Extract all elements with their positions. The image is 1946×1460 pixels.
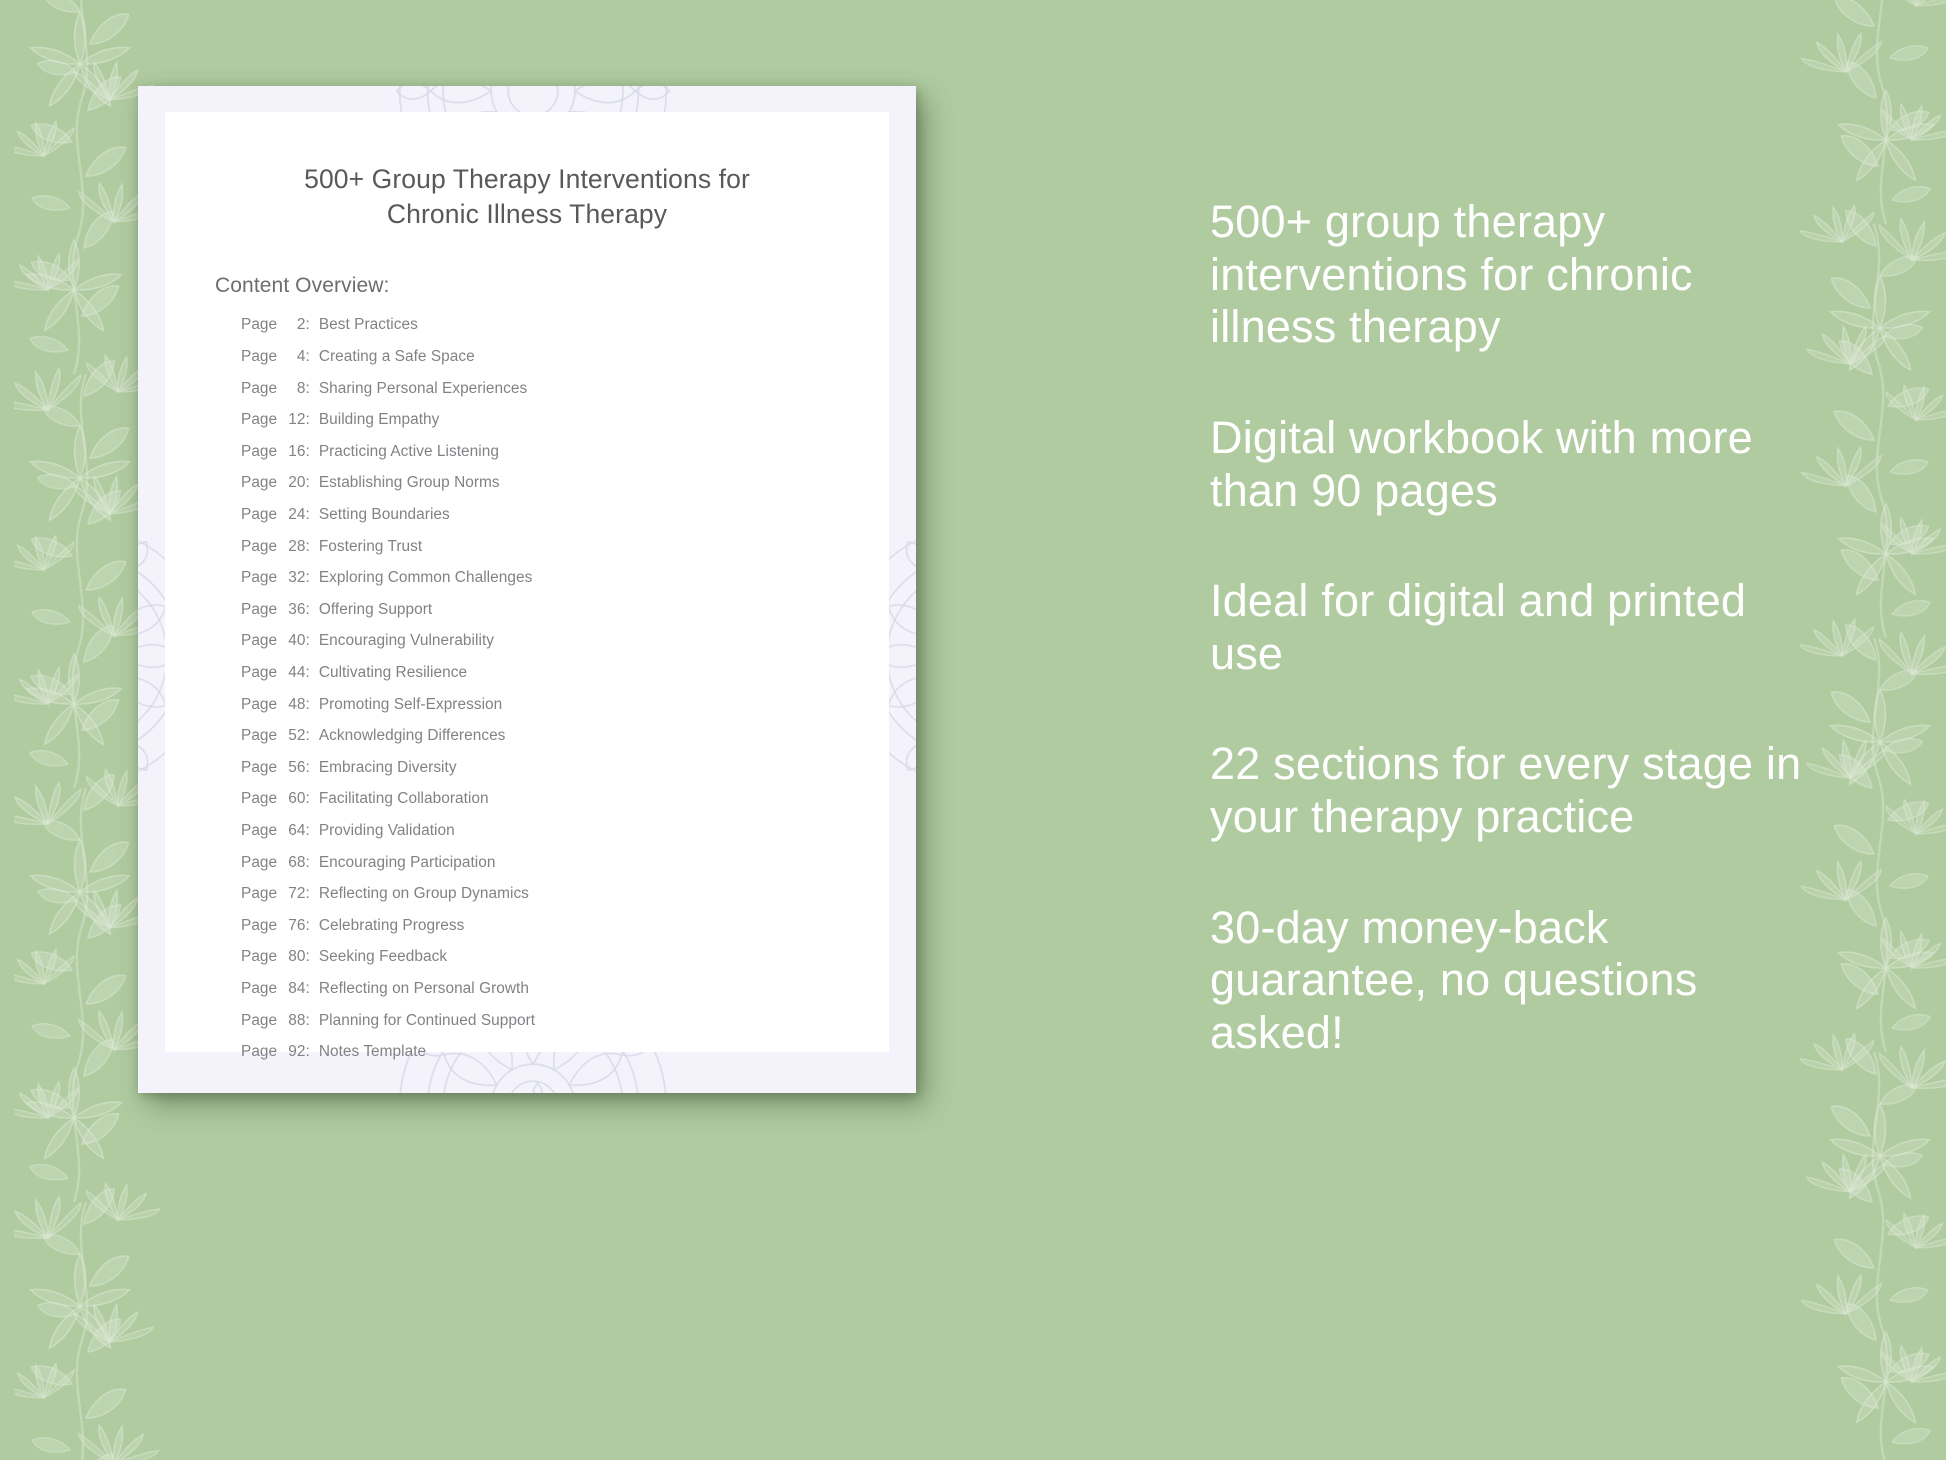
toc-page-number: 68	[281, 854, 305, 872]
toc-page-label: Page 12:	[241, 411, 319, 429]
toc-page-number: 4	[281, 348, 305, 366]
toc-colon: :	[305, 411, 309, 428]
toc-section-title: Setting Boundaries	[319, 506, 450, 524]
toc-page-number: 64	[281, 822, 305, 840]
toc-section-title: Sharing Personal Experiences	[319, 380, 527, 398]
toc-colon: :	[305, 1043, 309, 1060]
toc-page-label: Page 2:	[241, 316, 319, 334]
toc-row: Page 4:Creating a Safe Space	[241, 348, 889, 380]
toc-page-word: Page	[241, 506, 281, 523]
toc-section-title: Establishing Group Norms	[319, 474, 500, 492]
toc-page-number: 32	[281, 569, 305, 587]
toc-section-title: Practicing Active Listening	[319, 443, 499, 461]
toc-page-label: Page 80:	[241, 948, 319, 966]
toc-colon: :	[305, 474, 309, 491]
toc-page-label: Page 24:	[241, 506, 319, 524]
marketing-block: Ideal for digital and printed use	[1210, 575, 1810, 680]
toc-colon: :	[305, 443, 309, 460]
toc-colon: :	[305, 980, 309, 997]
toc-page-label: Page 56:	[241, 759, 319, 777]
toc-page-word: Page	[241, 1043, 281, 1060]
toc-colon: :	[305, 632, 309, 649]
toc-page-word: Page	[241, 696, 281, 713]
toc-page-word: Page	[241, 885, 281, 902]
toc-colon: :	[305, 1012, 309, 1029]
toc-colon: :	[305, 506, 309, 523]
toc-colon: :	[305, 854, 309, 871]
toc-colon: :	[305, 885, 309, 902]
toc-page-label: Page 16:	[241, 443, 319, 461]
toc-row: Page 20:Establishing Group Norms	[241, 474, 889, 506]
toc-row: Page 88:Planning for Continued Support	[241, 1012, 889, 1044]
marketing-block: 30-day money-back guarantee, no question…	[1210, 902, 1810, 1060]
toc-colon: :	[305, 316, 309, 333]
toc-page-label: Page 64:	[241, 822, 319, 840]
toc-section-title: Cultivating Resilience	[319, 664, 467, 682]
marketing-block: Digital workbook with more than 90 pages	[1210, 412, 1810, 517]
toc-page-word: Page	[241, 601, 281, 618]
toc-section-title: Promoting Self-Expression	[319, 696, 502, 714]
toc-colon: :	[305, 664, 309, 681]
toc-page-number: 48	[281, 696, 305, 714]
toc-section-title: Seeking Feedback	[319, 948, 447, 966]
toc-section-title: Creating a Safe Space	[319, 348, 475, 366]
toc-colon: :	[305, 538, 309, 555]
toc-page-word: Page	[241, 790, 281, 807]
toc-page-label: Page 48:	[241, 696, 319, 714]
toc-page-number: 24	[281, 506, 305, 524]
toc-colon: :	[305, 822, 309, 839]
toc-row: Page 56:Embracing Diversity	[241, 759, 889, 791]
page-title-line-1: 500+ Group Therapy Interventions for	[304, 164, 750, 194]
toc-page-number: 2	[281, 316, 305, 334]
toc-page-label: Page 72:	[241, 885, 319, 903]
toc-colon: :	[305, 790, 309, 807]
toc-section-title: Exploring Common Challenges	[319, 569, 533, 587]
toc-page-label: Page 52:	[241, 727, 319, 745]
toc-row: Page 40:Encouraging Vulnerability	[241, 632, 889, 664]
toc-row: Page 28:Fostering Trust	[241, 538, 889, 570]
toc-page-word: Page	[241, 569, 281, 586]
toc-page-word: Page	[241, 411, 281, 428]
toc-colon: :	[305, 696, 309, 713]
toc-section-title: Fostering Trust	[319, 538, 422, 556]
toc-row: Page 52:Acknowledging Differences	[241, 727, 889, 759]
toc-page-number: 44	[281, 664, 305, 682]
toc-row: Page 92:Notes Template	[241, 1043, 889, 1075]
toc-page-label: Page 88:	[241, 1012, 319, 1030]
toc-page-word: Page	[241, 443, 281, 460]
toc-page-word: Page	[241, 664, 281, 681]
toc-row: Page 16:Practicing Active Listening	[241, 443, 889, 475]
toc-page-label: Page 36:	[241, 601, 319, 619]
toc-section-title: Embracing Diversity	[319, 759, 457, 777]
toc-page-word: Page	[241, 380, 281, 397]
toc-page-label: Page 4:	[241, 348, 319, 366]
toc-page-word: Page	[241, 980, 281, 997]
toc-page-number: 60	[281, 790, 305, 808]
toc-section-title: Offering Support	[319, 601, 432, 619]
toc-colon: :	[305, 380, 309, 397]
toc-page-number: 8	[281, 380, 305, 398]
toc-colon: :	[305, 569, 309, 586]
toc-page-word: Page	[241, 759, 281, 776]
toc-page-number: 84	[281, 980, 305, 998]
toc-page-word: Page	[241, 854, 281, 871]
toc-page-number: 92	[281, 1043, 305, 1061]
toc-page-label: Page 8:	[241, 380, 319, 398]
toc-section-title: Planning for Continued Support	[319, 1012, 535, 1030]
toc-page-label: Page 44:	[241, 664, 319, 682]
page-title-line-2: Chronic Illness Therapy	[387, 199, 667, 229]
toc-colon: :	[305, 601, 309, 618]
toc-page-word: Page	[241, 917, 281, 934]
toc-section-title: Facilitating Collaboration	[319, 790, 489, 808]
marketing-block: 500+ group therapy interventions for chr…	[1210, 196, 1810, 354]
toc-colon: :	[305, 759, 309, 776]
table-of-contents: Page 2:Best PracticesPage 4:Creating a S…	[165, 316, 889, 1074]
toc-row: Page 12:Building Empathy	[241, 411, 889, 443]
marketing-copy: 500+ group therapy interventions for chr…	[1210, 196, 1810, 1060]
toc-section-title: Acknowledging Differences	[319, 727, 506, 745]
toc-section-title: Providing Validation	[319, 822, 455, 840]
toc-section-title: Celebrating Progress	[319, 917, 465, 935]
toc-page-label: Page 76:	[241, 917, 319, 935]
toc-row: Page 48:Promoting Self-Expression	[241, 696, 889, 728]
toc-page-word: Page	[241, 348, 281, 365]
toc-page-word: Page	[241, 538, 281, 555]
toc-page-label: Page 32:	[241, 569, 319, 587]
toc-page-number: 56	[281, 759, 305, 777]
toc-colon: :	[305, 948, 309, 965]
toc-page-word: Page	[241, 727, 281, 744]
toc-row: Page 24:Setting Boundaries	[241, 506, 889, 538]
toc-section-title: Notes Template	[319, 1043, 426, 1061]
toc-section-title: Encouraging Vulnerability	[319, 632, 494, 650]
toc-row: Page 84:Reflecting on Personal Growth	[241, 980, 889, 1012]
toc-page-word: Page	[241, 316, 281, 333]
toc-row: Page 60:Facilitating Collaboration	[241, 790, 889, 822]
document-preview: 500+ Group Therapy Interventions for Chr…	[138, 86, 916, 1093]
toc-row: Page 72:Reflecting on Group Dynamics	[241, 885, 889, 917]
toc-row: Page 2:Best Practices	[241, 316, 889, 348]
toc-row: Page 76:Celebrating Progress	[241, 917, 889, 949]
toc-page-number: 76	[281, 917, 305, 935]
toc-section-title: Reflecting on Group Dynamics	[319, 885, 529, 903]
toc-page-number: 72	[281, 885, 305, 903]
toc-page-number: 28	[281, 538, 305, 556]
toc-row: Page 32:Exploring Common Challenges	[241, 569, 889, 601]
toc-page-number: 12	[281, 411, 305, 429]
toc-section-title: Reflecting on Personal Growth	[319, 980, 529, 998]
toc-page-word: Page	[241, 1012, 281, 1029]
toc-page-label: Page 20:	[241, 474, 319, 492]
toc-page-number: 88	[281, 1012, 305, 1030]
toc-page-number: 80	[281, 948, 305, 966]
content-overview-label: Content Overview:	[215, 274, 889, 298]
page-title: 500+ Group Therapy Interventions for Chr…	[165, 162, 889, 232]
document-page: 500+ Group Therapy Interventions for Chr…	[165, 112, 889, 1052]
toc-page-word: Page	[241, 822, 281, 839]
floral-vine-right-icon	[1796, 0, 1946, 1460]
toc-page-label: Page 40:	[241, 632, 319, 650]
toc-page-word: Page	[241, 948, 281, 965]
toc-page-label: Page 60:	[241, 790, 319, 808]
document-mat: 500+ Group Therapy Interventions for Chr…	[138, 86, 916, 1093]
toc-page-label: Page 68:	[241, 854, 319, 872]
toc-colon: :	[305, 727, 309, 744]
toc-page-number: 40	[281, 632, 305, 650]
toc-row: Page 36:Offering Support	[241, 601, 889, 633]
toc-row: Page 80:Seeking Feedback	[241, 948, 889, 980]
toc-section-title: Building Empathy	[319, 411, 440, 429]
toc-row: Page 68:Encouraging Participation	[241, 854, 889, 886]
toc-page-number: 16	[281, 443, 305, 461]
toc-section-title: Encouraging Participation	[319, 854, 496, 872]
toc-row: Page 64:Providing Validation	[241, 822, 889, 854]
toc-page-number: 52	[281, 727, 305, 745]
toc-row: Page 44:Cultivating Resilience	[241, 664, 889, 696]
toc-page-label: Page 84:	[241, 980, 319, 998]
toc-page-label: Page 92:	[241, 1043, 319, 1061]
toc-colon: :	[305, 917, 309, 934]
toc-colon: :	[305, 348, 309, 365]
toc-section-title: Best Practices	[319, 316, 418, 334]
toc-page-word: Page	[241, 474, 281, 491]
toc-page-label: Page 28:	[241, 538, 319, 556]
toc-page-word: Page	[241, 632, 281, 649]
toc-page-number: 36	[281, 601, 305, 619]
toc-row: Page 8:Sharing Personal Experiences	[241, 380, 889, 412]
marketing-block: 22 sections for every stage in your ther…	[1210, 738, 1810, 843]
toc-page-number: 20	[281, 474, 305, 492]
